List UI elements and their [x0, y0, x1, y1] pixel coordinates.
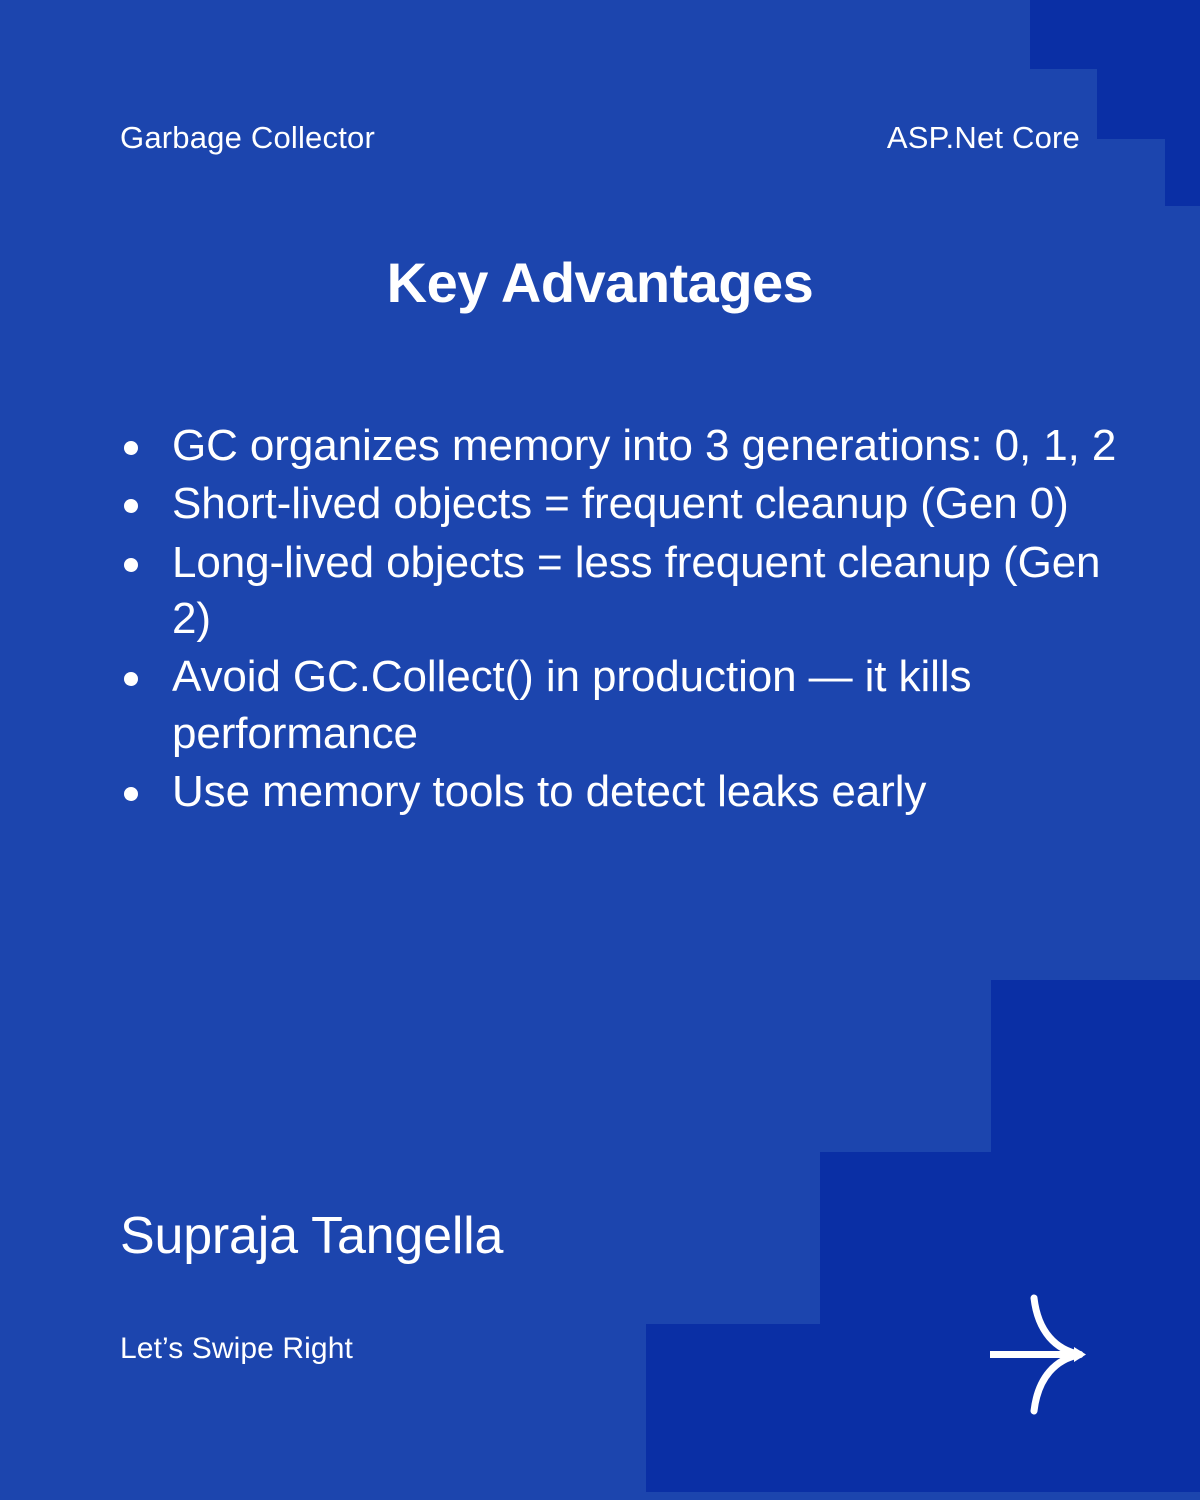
author-name: Supraja Tangella — [120, 1206, 503, 1266]
list-item-text: Avoid GC.Collect() in production — it ki… — [172, 652, 971, 757]
list-item: GC organizes memory into 3 generations: … — [118, 418, 1128, 474]
list-item: Avoid GC.Collect() in production — it ki… — [118, 649, 1128, 762]
page-title: Key Advantages — [0, 250, 1200, 315]
bullet-dot-icon — [124, 558, 138, 572]
bullet-dot-icon — [124, 441, 138, 455]
list-item: Use memory tools to detect leaks early — [118, 764, 1128, 820]
bullet-dot-icon — [124, 672, 138, 686]
bullet-dot-icon — [124, 499, 138, 513]
list-item-text: Use memory tools to detect leaks early — [172, 767, 926, 816]
list-item-text: GC organizes memory into 3 generations: … — [172, 421, 1116, 470]
slide-header: Garbage Collector ASP.Net Core — [120, 120, 1080, 156]
list-item-text: Short-lived objects = frequent cleanup (… — [172, 479, 1069, 528]
header-technology-label: ASP.Net Core — [887, 120, 1080, 156]
slide-canvas: Garbage Collector ASP.Net Core Key Advan… — [0, 0, 1200, 1500]
key-advantages-list: GC organizes memory into 3 generations: … — [118, 418, 1128, 822]
slide-content: Garbage Collector ASP.Net Core Key Advan… — [0, 0, 1200, 1500]
list-item-text: Long-lived objects = less frequent clean… — [172, 538, 1100, 643]
header-topic-label: Garbage Collector — [120, 120, 375, 156]
swipe-cta-label: Let’s Swipe Right — [120, 1332, 353, 1366]
bullet-dot-icon — [124, 787, 138, 801]
list-item: Long-lived objects = less frequent clean… — [118, 535, 1128, 648]
list-item: Short-lived objects = frequent cleanup (… — [118, 476, 1128, 532]
swipe-right-arrow-icon[interactable] — [990, 1292, 1120, 1417]
